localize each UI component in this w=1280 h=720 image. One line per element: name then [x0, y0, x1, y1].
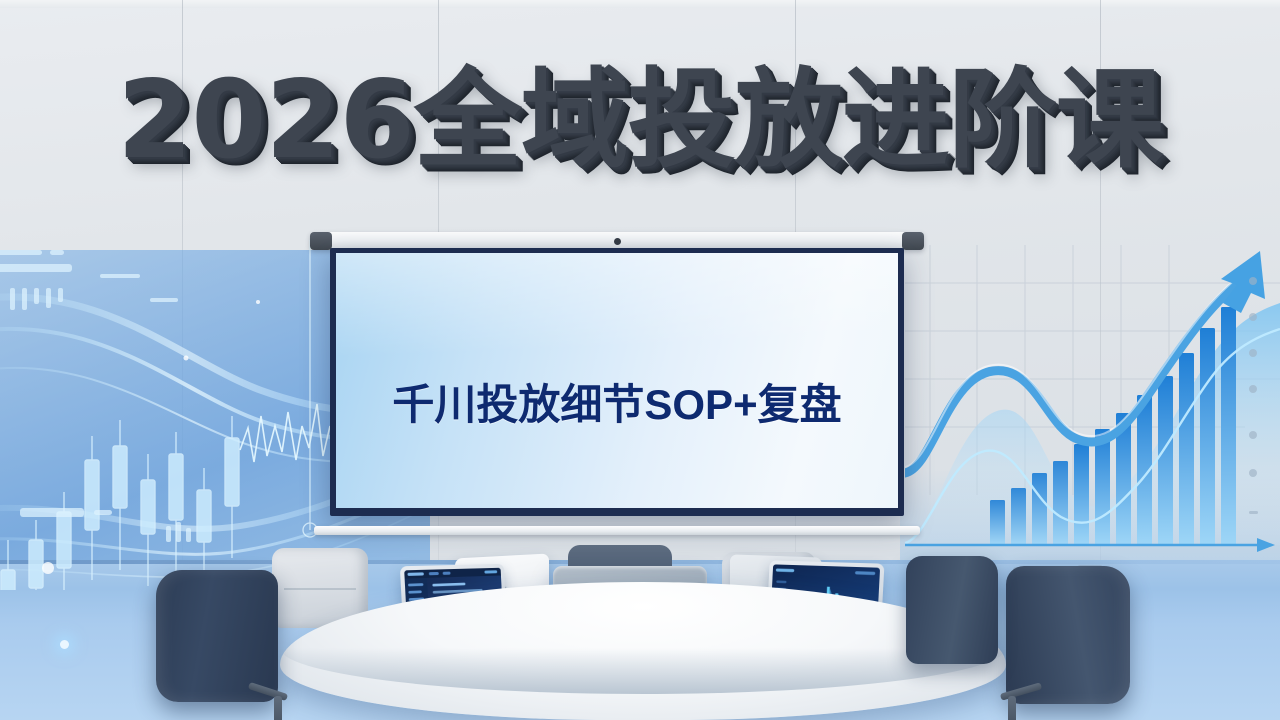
screen-title-text: 千川投放细节SOP+复盘 [336, 371, 898, 432]
headline-year: 2026 [117, 58, 414, 183]
chair-far-left [156, 570, 284, 720]
projector-screen-frame: 千川投放细节SOP+复盘 [330, 248, 904, 516]
chart-arrow-head [1221, 251, 1265, 313]
casing-center-knob [614, 238, 621, 245]
hud-candlestick-chart [1, 416, 239, 590]
ceiling-band [0, 0, 1280, 8]
projector-screen-weight-bar [314, 526, 920, 535]
poster-canvas: 千川投放细节SOP+复盘 2026全域投放进阶课 [0, 0, 1280, 720]
casing-end-cap-left [310, 232, 332, 250]
page-title: 2026全域投放进阶课 [0, 66, 1280, 175]
glow-accent-dot [60, 640, 69, 649]
casing-end-cap-right [902, 232, 924, 250]
headline-rest: 全域投放进阶课 [414, 59, 1163, 180]
projector-screen-surface: 千川投放细节SOP+复盘 [336, 253, 898, 508]
chair-right-front [906, 556, 1002, 676]
chair-far-right [1006, 566, 1136, 720]
growth-chart-overlay [905, 245, 1280, 590]
projector-screen: 千川投放细节SOP+复盘 [310, 232, 924, 532]
